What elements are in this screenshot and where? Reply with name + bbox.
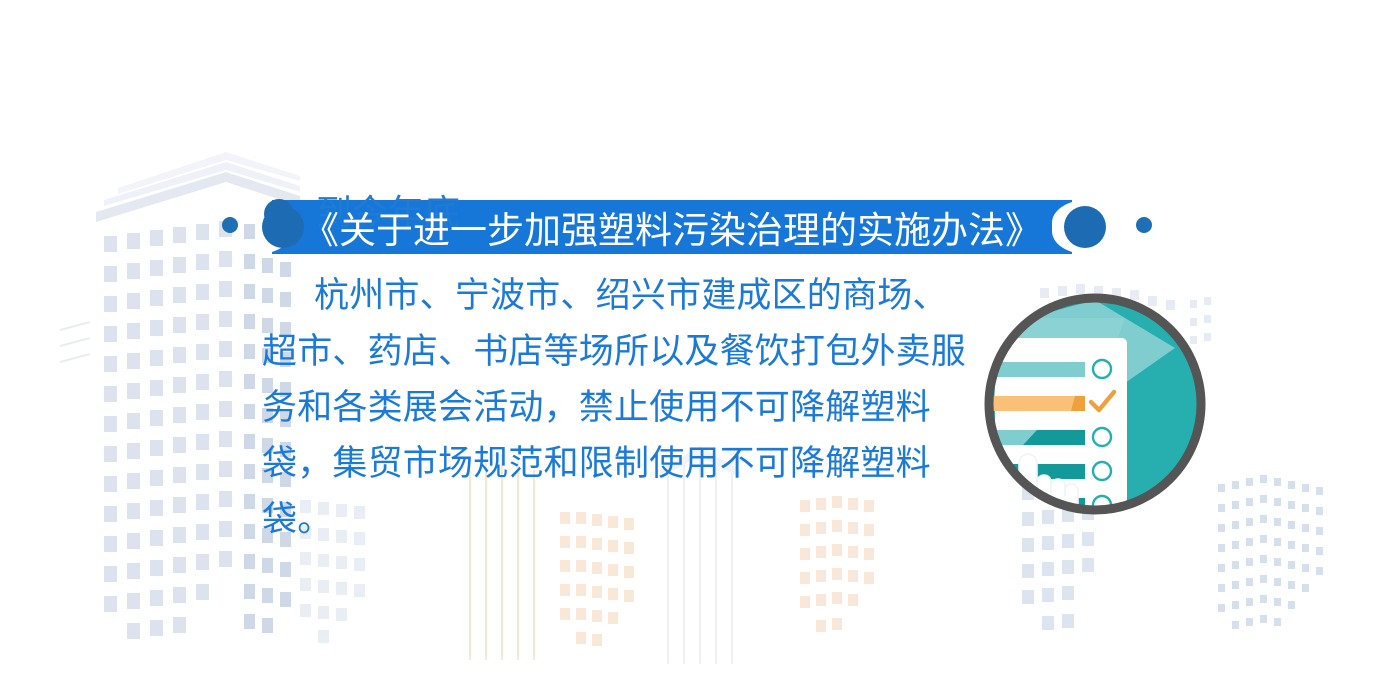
checklist-illustration-svg (975, 288, 1215, 528)
checklist-illustration (975, 288, 1215, 528)
body-paragraph: 杭州市、宁波市、绍兴市建成区的商场、超市、药店、书店等场所以及餐饮打包外卖服务和… (262, 268, 972, 548)
building-left-lines (60, 322, 90, 362)
poster-canvas: 《关于进一步加强塑料污染治理的实施办法》 到今年底 杭州市、宁波市、绍兴市建成区… (0, 0, 1400, 700)
decorative-dot-right-small (1136, 217, 1152, 233)
building-right-tower-b (1218, 475, 1323, 629)
banner-title-text: 《关于进一步加强塑料污染治理的实施办法》 (272, 200, 1072, 254)
title-banner: 《关于进一步加强塑料污染治理的实施办法》 (0, 98, 1400, 170)
decorative-dot-left-small (222, 217, 238, 233)
